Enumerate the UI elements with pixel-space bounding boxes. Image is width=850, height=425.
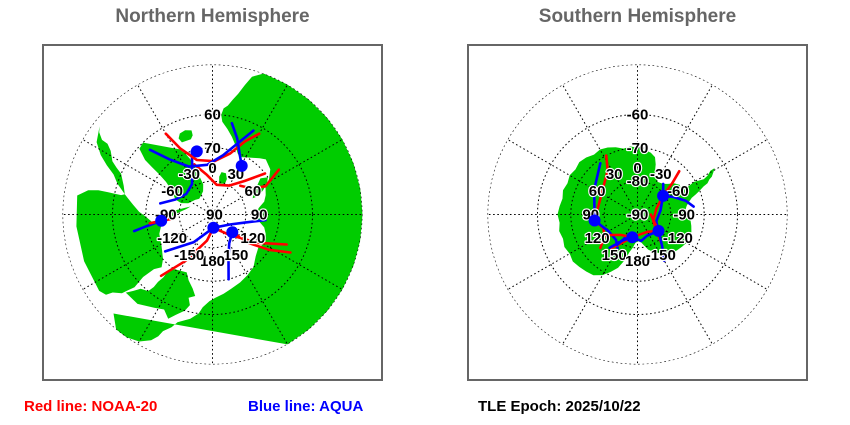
polar-plot-south: 0306090120150180-150-120-90-60-30-60-70-…	[469, 46, 806, 379]
satellite-position-marker	[191, 145, 203, 157]
svg-text:-120: -120	[157, 230, 187, 247]
legend-red-line: Red line: NOAA-20	[24, 398, 157, 415]
svg-text:60: 60	[204, 107, 221, 124]
svg-text:-80: -80	[627, 173, 649, 190]
svg-text:90: 90	[251, 207, 268, 224]
svg-text:-90: -90	[673, 207, 695, 224]
svg-text:0: 0	[208, 160, 216, 177]
svg-text:30: 30	[606, 166, 623, 183]
figure-root: Northern Hemisphere 0306090120150180-150…	[0, 0, 850, 425]
svg-text:70: 70	[204, 140, 221, 157]
satellite-position-marker	[236, 160, 248, 172]
svg-text:-30: -30	[178, 166, 200, 183]
svg-text:-30: -30	[650, 166, 672, 183]
svg-text:-60: -60	[161, 183, 183, 200]
svg-text:-150: -150	[646, 247, 676, 264]
svg-text:-120: -120	[663, 230, 693, 247]
satellite-position-marker	[226, 226, 238, 238]
legend-blue-line: Blue line: AQUA	[248, 398, 363, 415]
satellite-position-marker	[626, 231, 638, 243]
polar-plot-north: 0306090120150180-150-120-90-60-30706090	[44, 46, 381, 379]
svg-text:150: 150	[602, 247, 627, 264]
svg-text:60: 60	[589, 183, 606, 200]
svg-text:-70: -70	[627, 140, 649, 157]
legend-tle-epoch: TLE Epoch: 2025/10/22	[478, 398, 641, 415]
panel-title-south: Southern Hemisphere	[425, 6, 850, 28]
svg-text:-90: -90	[627, 207, 649, 224]
panel-northern-hemisphere: Northern Hemisphere 0306090120150180-150…	[0, 0, 425, 425]
satellite-position-marker	[589, 215, 601, 227]
svg-text:-60: -60	[627, 107, 649, 124]
panel-title-north: Northern Hemisphere	[0, 6, 425, 28]
svg-text:-60: -60	[667, 183, 689, 200]
svg-text:120: 120	[585, 230, 610, 247]
longitude-label-layer: 0306090120150180-150-120-90-60-30-60-70-…	[582, 107, 695, 271]
plot-frame-south: 0306090120150180-150-120-90-60-30-60-70-…	[467, 44, 808, 381]
satellite-position-marker	[207, 222, 219, 234]
svg-text:150: 150	[223, 247, 248, 264]
svg-text:90: 90	[206, 207, 223, 224]
svg-text:-150: -150	[174, 247, 204, 264]
satellite-position-marker	[657, 190, 669, 202]
svg-text:60: 60	[245, 183, 262, 200]
satellite-position-marker	[653, 225, 665, 237]
svg-text:120: 120	[240, 230, 265, 247]
plot-frame-north: 0306090120150180-150-120-90-60-30706090	[42, 44, 383, 381]
satellite-position-marker	[155, 215, 167, 227]
panel-southern-hemisphere: Southern Hemisphere 0306090120150180-150…	[425, 0, 850, 425]
